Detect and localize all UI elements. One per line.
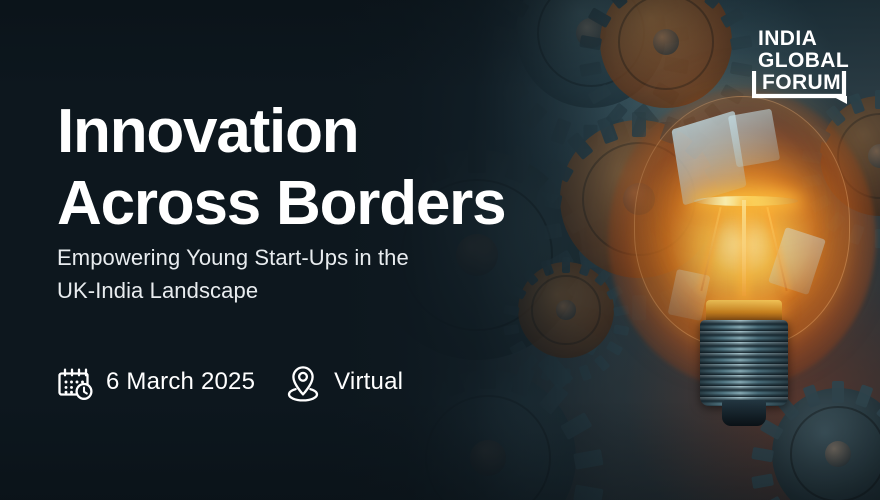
event-date-item: 6 March 2025 <box>55 362 255 402</box>
logo-line-forum: FORUM <box>762 71 841 94</box>
location-pin-icon <box>283 362 323 402</box>
calendar-clock-icon <box>55 362 95 402</box>
india-global-forum-logo[interactable]: INDIA GLOBAL FORUM <box>752 24 858 104</box>
event-location-label: Virtual <box>334 368 403 396</box>
logo-speech-tail <box>832 96 847 104</box>
event-meta-row: 6 March 2025 Virtual <box>55 362 403 402</box>
event-banner: Innovation Across Borders Empowering You… <box>0 0 880 500</box>
logo-line-global: GLOBAL <box>758 49 849 72</box>
page-subtitle: Empowering Young Start-Ups in the UK-Ind… <box>57 241 409 307</box>
event-location-item: Virtual <box>283 362 403 402</box>
banner-content: Innovation Across Borders Empowering You… <box>0 0 880 500</box>
page-title: Innovation Across Borders <box>57 96 505 240</box>
logo-line-india: INDIA <box>758 27 817 50</box>
event-date-label: 6 March 2025 <box>106 368 255 396</box>
